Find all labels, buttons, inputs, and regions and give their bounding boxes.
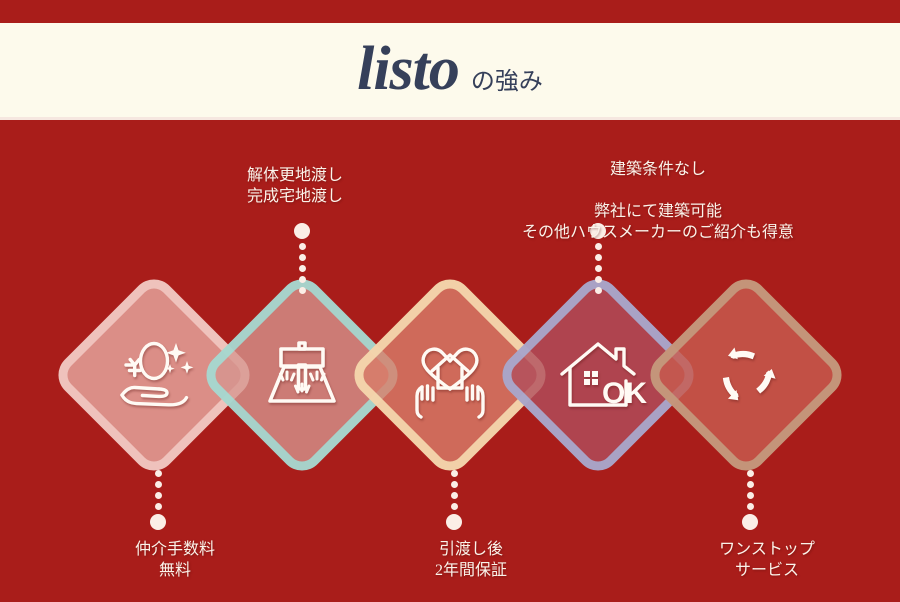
connector-dot (747, 492, 754, 499)
connector-dot (451, 481, 458, 488)
connector-dot (451, 503, 458, 510)
feature-label-no-building-conditions: 建築条件なし 弊社にて建築可能 その他ハウスメーカーのご紹介も得意 (452, 138, 864, 265)
connector-dot (451, 492, 458, 499)
feature-diamond-one-stop-service[interactable] (641, 270, 850, 479)
connector-dot (595, 287, 602, 294)
feature-label-demolition-land-delivery: 解体更地渡し 完成宅地渡し (168, 144, 422, 228)
connector-dot (299, 287, 306, 294)
connector-dot (299, 254, 306, 261)
infographic-stage: listo の強み (0, 0, 900, 600)
connector-dot (299, 276, 306, 283)
connector-dot (451, 470, 458, 477)
connector-dot (299, 265, 306, 272)
connector-demolition-land-delivery (294, 221, 310, 296)
feature-label-main: 仲介手数料 無料 (52, 539, 298, 581)
header-title-group: listo の強み (357, 38, 543, 100)
connector-dot (747, 503, 754, 510)
connector-dot (747, 470, 754, 477)
feature-label-main: ワンストップ サービス (644, 539, 890, 581)
feature-label-one-stop-service: ワンストップ サービス (644, 518, 890, 602)
connector-dot (595, 276, 602, 283)
feature-label-two-year-warranty: 引渡し後 2年間保証 (348, 518, 594, 602)
connector-dot (155, 503, 162, 510)
feature-label-main: 建築条件なし (452, 159, 864, 180)
connector-dot (155, 470, 162, 477)
feature-label-main: 引渡し後 2年間保証 (348, 539, 594, 581)
connector-dot (155, 481, 162, 488)
brand-subtitle-text: の強み (471, 70, 543, 94)
brand-logo-text: listo (357, 38, 459, 100)
connector-dot (155, 492, 162, 499)
feature-label-brokerage-fee: 仲介手数料 無料 (52, 518, 298, 602)
header-hairline-divider (0, 117, 900, 120)
header-band: listo の強み (0, 23, 900, 119)
connector-dot (595, 265, 602, 272)
feature-label-sub: 弊社にて建築可能 その他ハウスメーカーのご紹介も得意 (452, 201, 864, 243)
connector-dot (747, 481, 754, 488)
feature-label-main: 解体更地渡し 完成宅地渡し (168, 165, 422, 207)
connector-dot (299, 243, 306, 250)
